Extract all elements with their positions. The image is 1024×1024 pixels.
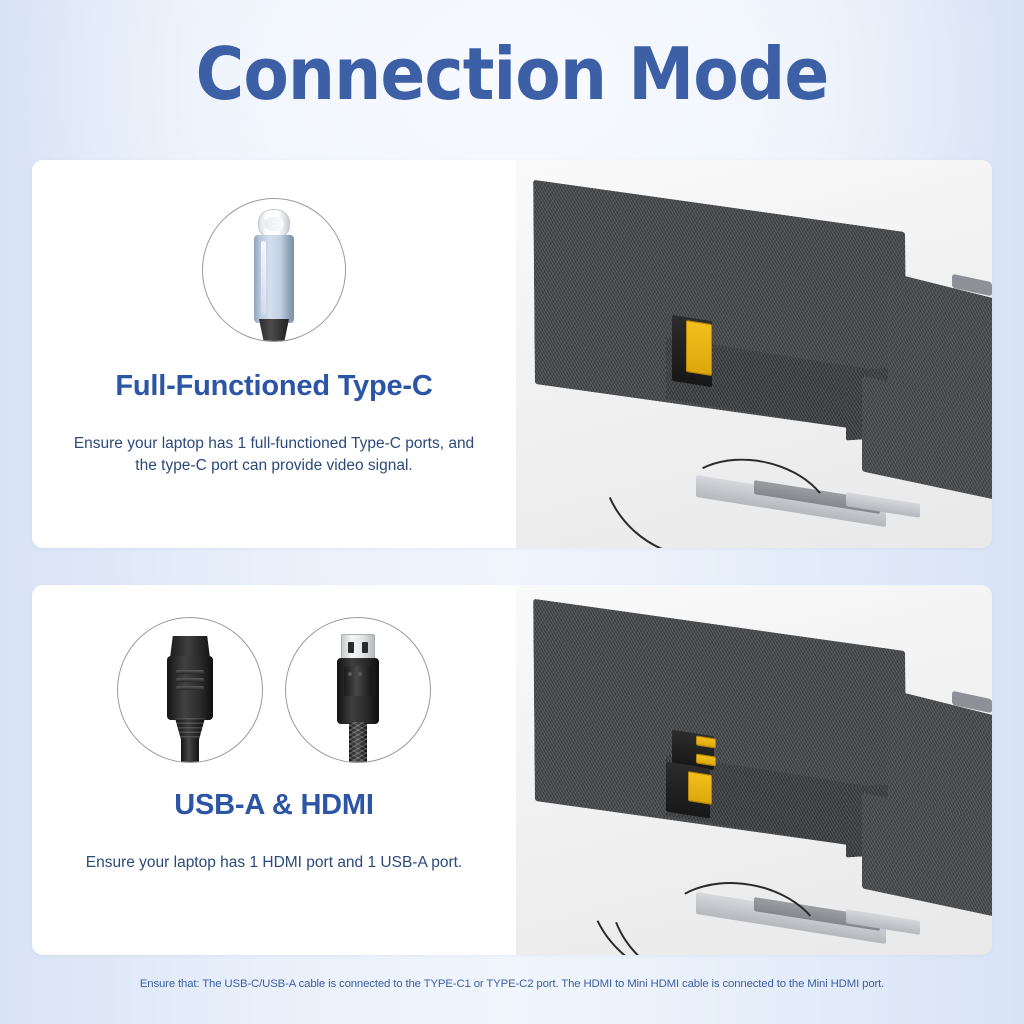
card-1-photo-panel: [516, 160, 992, 548]
card-full-functioned-type-c: Full-Functioned Type-C Ensure your lapto…: [32, 160, 992, 548]
usb-a-screw-right: [358, 672, 362, 676]
usb-c-connector-icon: [202, 198, 346, 342]
card-2-product-photo: [516, 585, 992, 955]
usb-a-connector-icon: [285, 617, 431, 763]
page-title: Connection Mode: [41, 38, 983, 110]
usb-a-housing: [337, 658, 379, 724]
card-1-heading: Full-Functioned Type-C: [115, 370, 432, 403]
usb-c-braided-cable: [264, 341, 284, 342]
usb-c-housing: [254, 235, 294, 323]
hdmi-tip: [170, 636, 210, 658]
usb-c-strain-relief: [259, 319, 289, 342]
hdmi-connector-icon: [117, 617, 263, 763]
card-1-text-panel: Full-Functioned Type-C Ensure your lapto…: [32, 160, 516, 548]
usb-a-screw-left: [348, 672, 352, 676]
hdmi-cable: [181, 738, 199, 763]
card-2-heading: USB-A & HDMI: [174, 789, 374, 822]
hdmi-grip-ridges: [176, 670, 204, 694]
page-background: Connection Mode Full-Functioned Type-C E…: [0, 0, 1024, 1024]
usb-a-metal-tip: [341, 634, 375, 660]
card-1-product-photo: [516, 160, 992, 548]
usb-a-braided-cable: [349, 722, 367, 763]
card-2-text-panel: USB-A & HDMI Ensure your laptop has 1 HD…: [32, 585, 516, 955]
card-2-body: Ensure your laptop has 1 HDMI port and 1…: [86, 852, 463, 874]
card-1-icon-row: [202, 198, 346, 342]
card-1-body: Ensure your laptop has 1 full-functioned…: [64, 433, 484, 477]
card-2-icon-row: [117, 617, 431, 763]
card-usb-a-and-hdmi: USB-A & HDMI Ensure your laptop has 1 HD…: [32, 585, 992, 955]
hdmi-housing: [167, 656, 213, 720]
page-title-container: Connection Mode: [0, 38, 1024, 110]
footer-note: Ensure that: The USB-C/USB-A cable is co…: [0, 978, 1024, 990]
card-2-photo-panel: [516, 585, 992, 955]
